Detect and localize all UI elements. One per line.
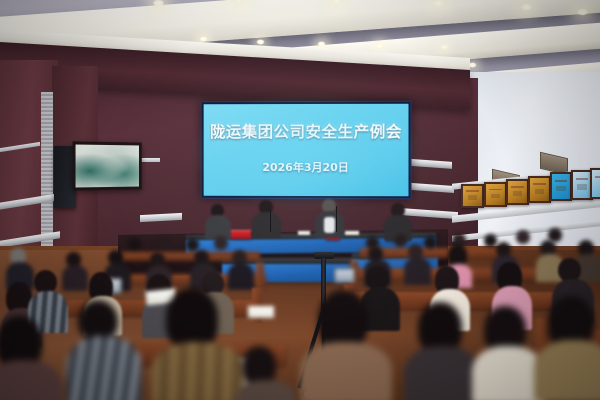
- person-head: [156, 236, 169, 249]
- wall-painting: [73, 141, 142, 190]
- plaque-text-line: [555, 180, 567, 182]
- award-plaque: [484, 182, 507, 207]
- award-plaque: [506, 179, 529, 205]
- plaque-text-line: [511, 186, 523, 188]
- downlight-icon: [576, 8, 589, 16]
- plaque-text-line: [576, 178, 588, 180]
- person-head: [214, 236, 228, 250]
- plaque-text-line: [533, 183, 545, 185]
- person-torso: [404, 257, 431, 285]
- microphone-stand: [336, 206, 337, 232]
- plaque-text-block: [491, 194, 501, 199]
- slide-date: 2026年3月20日: [262, 158, 349, 174]
- projection-screen-surface: 陇运集团公司安全生产例会 2026年3月20日: [204, 104, 409, 197]
- meeting-room-photograph: 陇运集团公司安全生产例会 2026年3月20日: [0, 0, 600, 400]
- downlight-icon: [440, 44, 449, 50]
- person-hair: [318, 290, 368, 350]
- plaque-text-line: [489, 189, 501, 191]
- award-plaque: [528, 176, 551, 203]
- person-head: [186, 238, 199, 251]
- person-torso: [534, 340, 600, 400]
- plaque-text-line: [466, 190, 478, 192]
- plaque-text-block: [577, 184, 586, 190]
- document: [248, 306, 274, 318]
- person-torso: [228, 263, 254, 290]
- downlight-icon: [520, 3, 533, 11]
- downlight-icon: [317, 41, 326, 47]
- person-head: [516, 230, 530, 244]
- plaque-text-block: [556, 186, 565, 192]
- person-head: [424, 236, 437, 249]
- person-head: [128, 238, 141, 251]
- painting-artwork: [76, 145, 139, 188]
- person-torso: [252, 212, 281, 238]
- person-head: [484, 234, 497, 247]
- name-plate: [231, 230, 251, 239]
- plaque-text-block: [468, 195, 478, 199]
- wall-vertical-strip: [41, 92, 53, 272]
- person-hair: [166, 288, 218, 350]
- person-torso: [62, 265, 88, 291]
- document: [298, 231, 310, 235]
- projection-screen: 陇运集团公司安全生产例会 2026年3月20日: [201, 101, 412, 200]
- slide-title: 陇运集团公司安全生产例会: [210, 119, 402, 141]
- plaque-text-block: [535, 189, 545, 194]
- downlight-icon: [375, 43, 384, 49]
- bench-end-panel: [256, 262, 264, 288]
- award-plaque: [461, 184, 484, 208]
- plaque-text-block: [513, 191, 523, 196]
- person-torso: [404, 346, 480, 400]
- award-plaque: [590, 168, 600, 199]
- award-plaque: [550, 172, 572, 201]
- microphone-stand: [270, 210, 271, 232]
- person-torso: [300, 342, 392, 400]
- plaque-text-line: [595, 176, 600, 178]
- person-head: [394, 234, 407, 247]
- person-torso: [66, 336, 142, 400]
- person-torso: [152, 342, 246, 400]
- document: [345, 231, 359, 235]
- downlight-icon: [256, 39, 265, 45]
- person-shirt: [324, 217, 335, 233]
